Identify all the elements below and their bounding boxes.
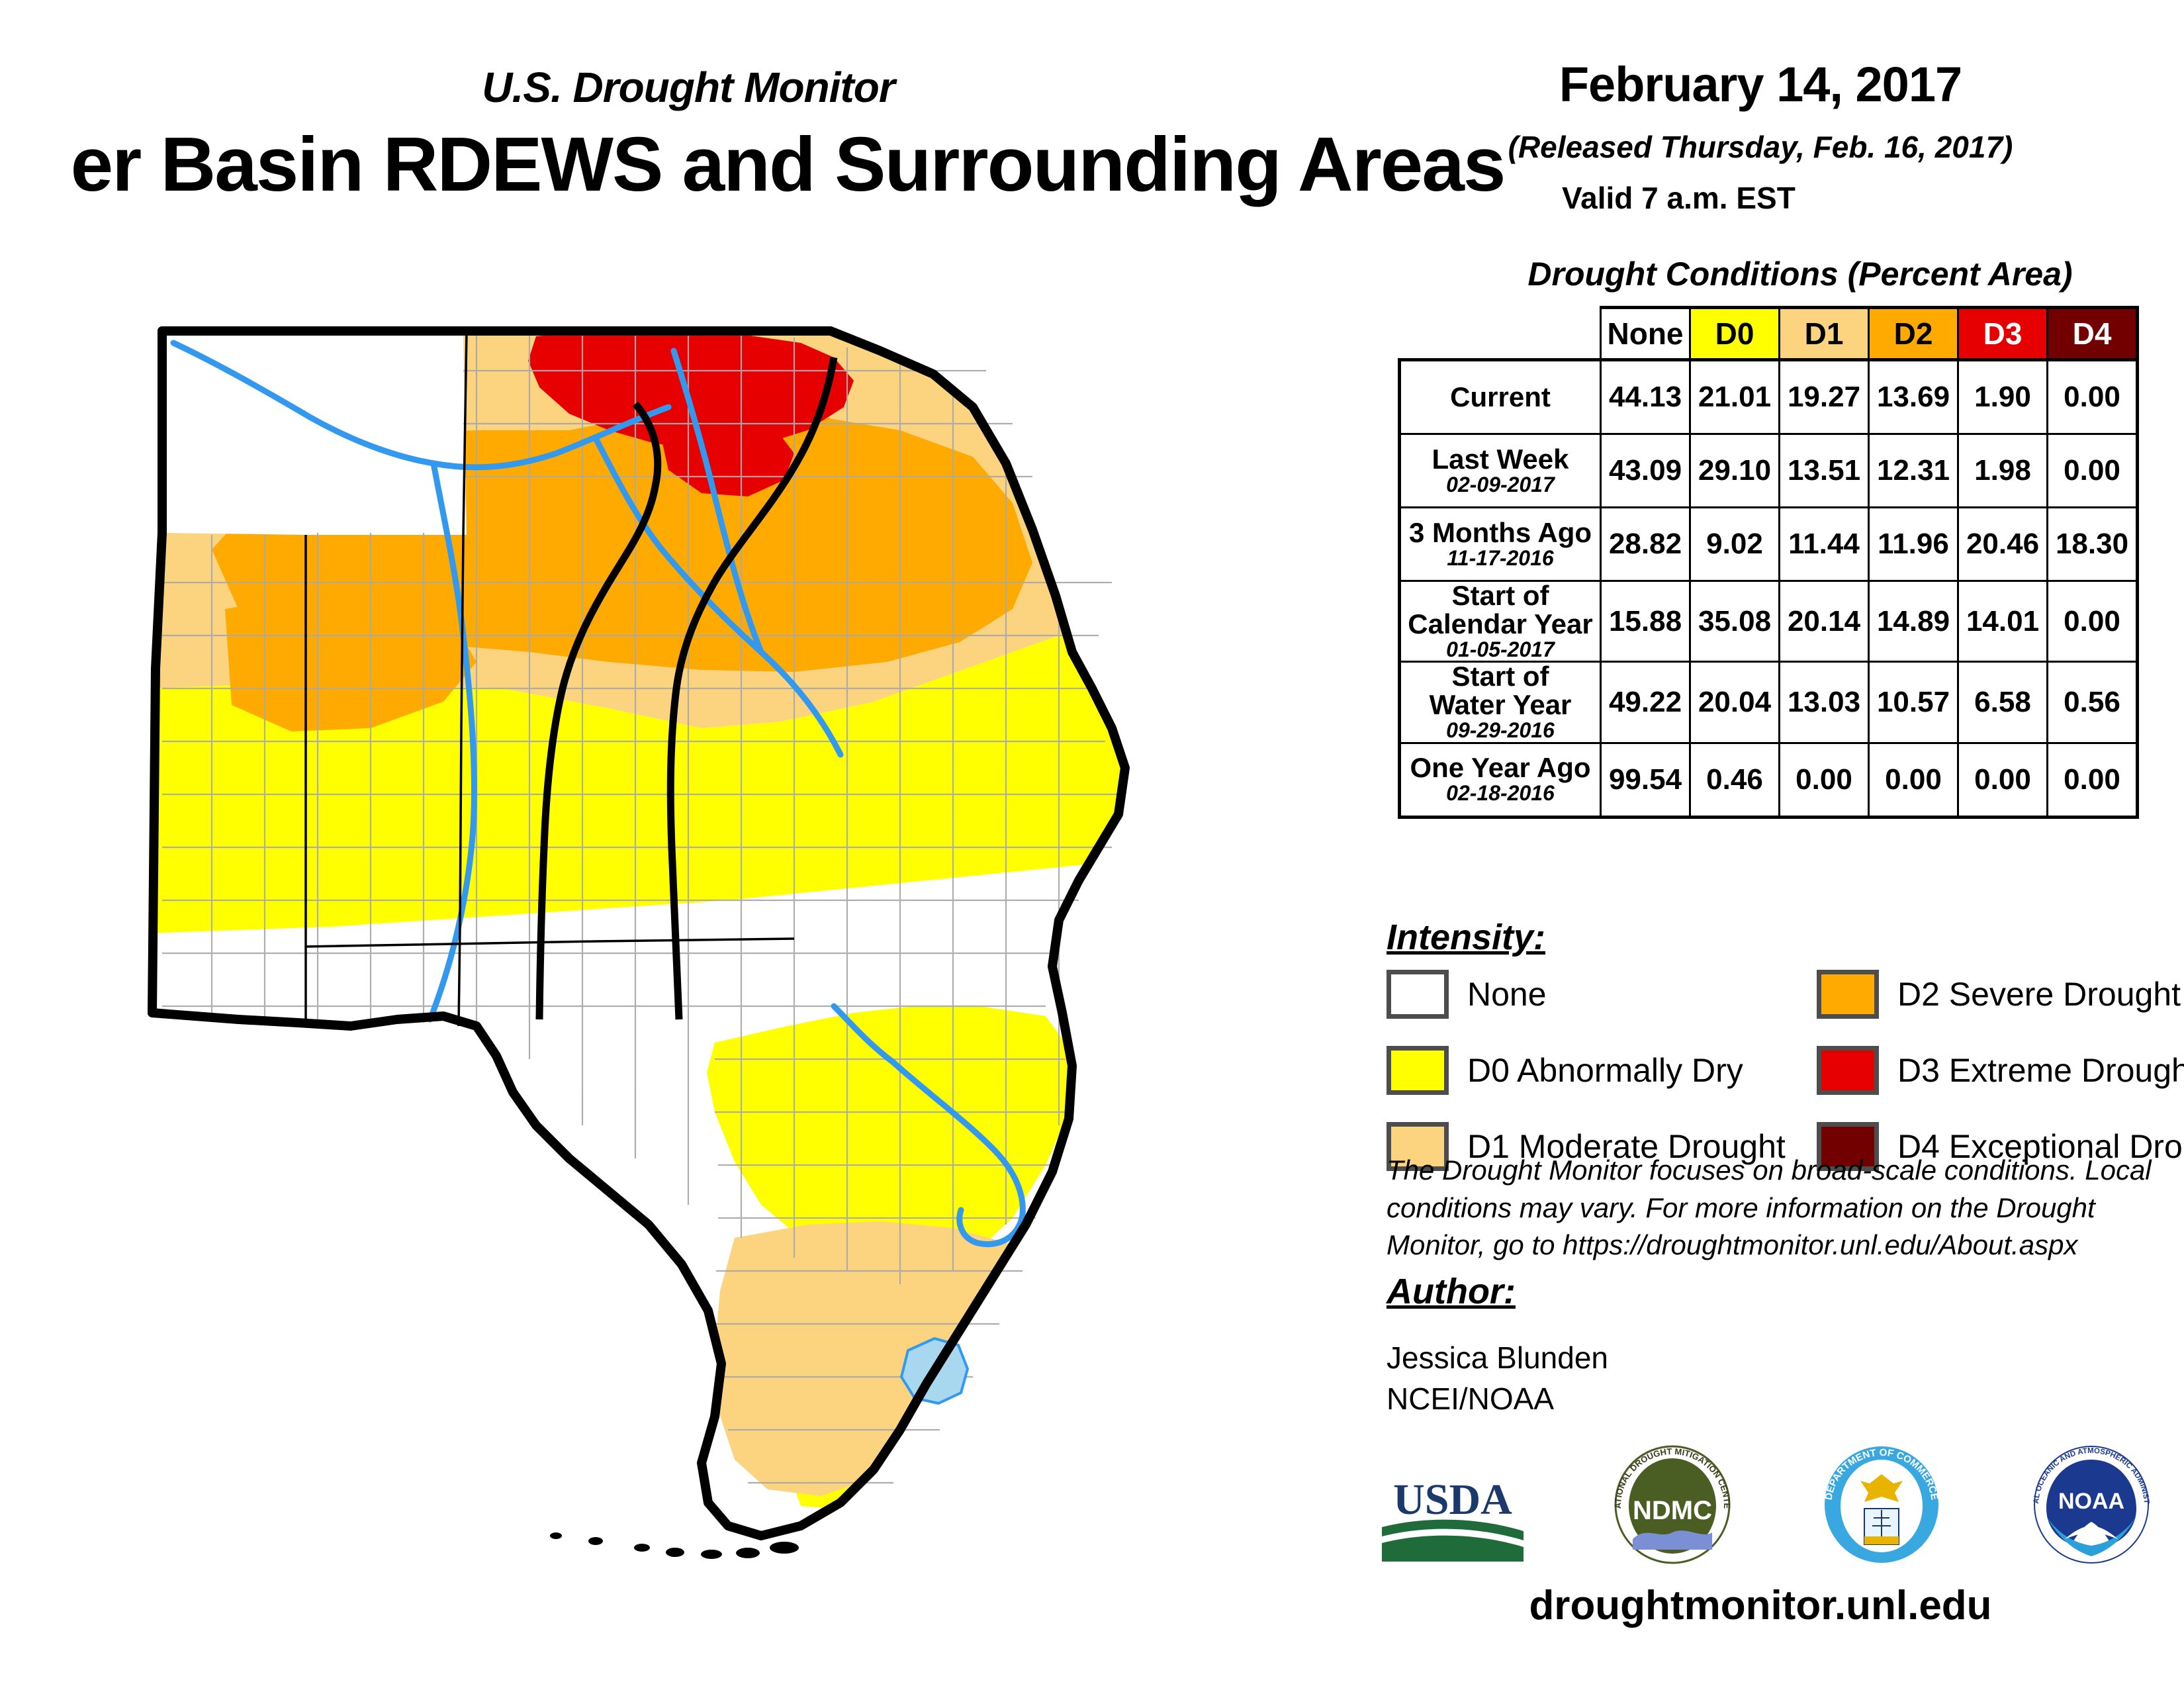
table-cell-none: 49.22 [1601,662,1690,743]
usda-logo: USDA [1377,1453,1529,1569]
table-cell-d2: 10.57 [1869,662,1958,743]
page-title: er Basin RDEWS and Surrounding Areas [0,126,1655,203]
page-header: U.S. Drought Monitor er Basin RDEWS and … [0,0,2184,238]
legend-label-none: None [1467,975,1547,1013]
peninsula-d1-area [715,1221,1032,1496]
drought-conditions-table: NoneD0D1D2D3D4 Current44.1321.0119.2713.… [1398,306,2139,819]
table-row: 3 Months Ago11-17-201628.829.0211.4411.9… [1400,508,2138,581]
table-cell-d3: 20.46 [1958,508,2048,581]
table-cell-d1: 20.14 [1780,581,1869,662]
legend-item-d0: D0 Abnormally Dry [1387,1046,1743,1095]
table-cell-d1: 19.27 [1780,360,1869,434]
table-row: Start ofWater Year09-29-201649.2220.0413… [1400,662,2138,743]
table-row: Last Week02-09-201743.0929.1013.5112.311… [1400,434,2138,508]
table-cell-d1: 11.44 [1780,508,1869,581]
table-title: Drought Conditions (Percent Area) [1443,255,2158,293]
row-label-date: 02-09-2017 [1401,474,1600,496]
legend-item-d3: D3 Extreme Drought [1817,1046,2184,1095]
table-column-header-d1: D1 [1780,308,1869,360]
table-cell-d2: 11.96 [1869,508,1958,581]
row-label-text: Start ofWater Year [1401,663,1600,720]
legend-swatch-d2 [1817,970,1879,1019]
table-cell-none: 44.13 [1601,360,1690,434]
table-cell-d0: 20.04 [1690,662,1780,743]
row-label-text: Start ofCalendar Year [1401,582,1600,639]
table-cell-d3: 14.01 [1958,581,2048,662]
svg-text:USDA: USDA [1393,1476,1512,1524]
table-row: One Year Ago02-18-201699.540.460.000.000… [1400,743,2138,817]
legend-label-d3: D3 Extreme Drought [1897,1051,2184,1090]
table-cell-none: 28.82 [1601,508,1690,581]
table-column-header-none: None [1601,308,1690,360]
legend-item-none: None [1387,970,1547,1019]
row-label-date: 01-05-2017 [1401,639,1600,661]
intensity-heading: Intensity: [1387,917,1545,958]
table-cell-d0: 21.01 [1690,360,1780,434]
table-cell-d4: 0.00 [2048,434,2138,508]
row-label-text: 3 Months Ago [1401,519,1600,547]
legend-item-d2: D2 Severe Drought [1817,970,2181,1019]
table-row-label: One Year Ago02-18-2016 [1400,743,1601,817]
table-cell-d1: 13.03 [1780,662,1869,743]
agency-logos: USDA NDMC NATIONAL DROUGHT MITIGATION CE… [1377,1436,2158,1569]
valid-date: February 14, 2017 [1443,56,2078,113]
row-label-date: 11-17-2016 [1401,547,1600,570]
table-row: Current44.1321.0119.2713.691.900.00 [1400,360,2138,434]
table-cell-d4: 18.30 [2048,508,2138,581]
row-label-text: One Year Ago [1401,754,1600,782]
row-label-text: Current [1401,383,1600,412]
valid-time: Valid 7 a.m. EST [1562,180,1972,216]
table-column-header-d0: D0 [1690,308,1780,360]
table-corner-cell [1400,308,1601,360]
table-cell-d0: 35.08 [1690,581,1780,662]
table-cell-d3: 1.90 [1958,360,2048,434]
table-cell-none: 99.54 [1601,743,1690,817]
legend-swatch-none [1387,970,1449,1019]
table-cell-d2: 14.89 [1869,581,1958,662]
table-cell-d1: 13.51 [1780,434,1869,508]
table-cell-none: 15.88 [1601,581,1690,662]
table-cell-d0: 9.02 [1690,508,1780,581]
row-label-date: 09-29-2016 [1401,720,1600,742]
table-column-header-d3: D3 [1958,308,2048,360]
table-row: Start ofCalendar Year01-05-201715.8835.0… [1400,581,2138,662]
table-cell-d2: 12.31 [1869,434,1958,508]
table-row-label: 3 Months Ago11-17-2016 [1400,508,1601,581]
row-label-text: Last Week [1401,445,1600,474]
program-label: U.S. Drought Monitor [410,63,966,112]
svg-text:NDMC: NDMC [1633,1496,1712,1525]
drought-map[interactable] [132,265,1324,1562]
table-cell-d2: 13.69 [1869,360,1958,434]
table-cell-d3: 6.58 [1958,662,2048,743]
table-cell-d2: 0.00 [1869,743,1958,817]
legend-label-d2: D2 Severe Drought [1897,975,2181,1013]
release-date: (Released Thursday, Feb. 16, 2017) [1423,129,2098,165]
table-column-header-d2: D2 [1869,308,1958,360]
table-header-row: NoneD0D1D2D3D4 [1400,308,2138,360]
table-row-label: Last Week02-09-2017 [1400,434,1601,508]
author-affiliation: NCEI/NOAA [1387,1378,1608,1419]
legend-swatch-d0 [1387,1046,1449,1095]
doc-logo: DEPARTMENT OF COMMERCE [1815,1440,1948,1569]
table-body: Current44.1321.0119.2713.691.900.00Last … [1400,360,2138,818]
table-row-label: Current [1400,360,1601,434]
legend-swatch-d3 [1817,1046,1879,1095]
table-cell-d4: 0.00 [2048,581,2138,662]
legend-label-d0: D0 Abnormally Dry [1467,1051,1743,1090]
row-label-date: 02-18-2016 [1401,782,1600,805]
svg-text:NOAA: NOAA [2058,1489,2124,1514]
table-cell-d4: 0.56 [2048,662,2138,743]
table-column-header-d4: D4 [2048,308,2138,360]
ndmc-logo: NDMC NATIONAL DROUGHT MITIGATION CENTER [1606,1440,1739,1569]
site-url: droughtmonitor.unl.edu [1390,1582,2131,1629]
author-heading: Author: [1387,1271,1516,1312]
disclaimer-text: The Drought Monitor focuses on broad-sca… [1387,1152,2167,1264]
table-cell-none: 43.09 [1601,434,1690,508]
table-cell-d4: 0.00 [2048,360,2138,434]
table-cell-d3: 1.98 [1958,434,2048,508]
table-cell-d0: 29.10 [1690,434,1780,508]
table-cell-d1: 0.00 [1780,743,1869,817]
table-cell-d3: 0.00 [1958,743,2048,817]
author-details: Jessica Blunden NCEI/NOAA [1387,1337,1608,1419]
author-name: Jessica Blunden [1387,1337,1608,1378]
table-cell-d4: 0.00 [2048,743,2138,817]
table-row-label: Start ofCalendar Year01-05-2017 [1400,581,1601,662]
table-cell-d0: 0.46 [1690,743,1780,817]
table-row-label: Start ofWater Year09-29-2016 [1400,662,1601,743]
noaa-logo: NOAA NATIONAL OCEANIC AND ATMOSPHERIC AD… [2025,1440,2158,1569]
